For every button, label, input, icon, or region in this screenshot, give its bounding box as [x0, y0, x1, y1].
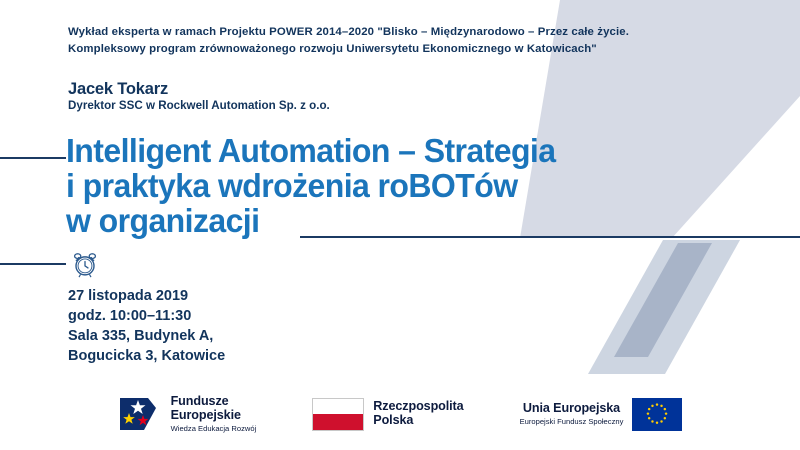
intro-text: Wykład eksperta w ramach Projektu POWER …: [68, 24, 668, 57]
event-address: Bogucicka 3, Katowice: [68, 346, 225, 366]
event-poster: Wykład eksperta w ramach Projektu POWER …: [0, 0, 800, 450]
alarm-clock-icon: [70, 249, 100, 279]
eu-flag-icon: [632, 398, 682, 431]
fe-logo-text: Fundusze Europejskie Wiedza Edukacja Roz…: [171, 395, 257, 432]
event-details: 27 listopada 2019 godz. 10:00–11:30 Sala…: [68, 286, 225, 366]
title-line-1: Intelligent Automation – Strategia: [66, 133, 667, 168]
slanted-band-inner: [614, 243, 712, 357]
fundusze-europejskie-logo: Fundusze Europejskie Wiedza Edukacja Roz…: [118, 394, 257, 434]
unia-europejska-logo: Unia Europejska Europejski Fundusz Społe…: [520, 398, 683, 431]
flag-stripe-white: [313, 399, 363, 415]
title-line-2: i praktyka wdrożenia roBOTów: [66, 168, 667, 203]
event-room: Sala 335, Budynek A,: [68, 326, 225, 346]
speaker-name: Jacek Tokarz: [68, 80, 168, 99]
ue-logo-line3: Europejski Fundusz Społeczny: [520, 418, 624, 426]
rp-logo-line2: Polska: [373, 414, 463, 428]
fe-logo-line2: Europejskie: [171, 409, 257, 423]
event-time: godz. 10:00–11:30: [68, 306, 225, 326]
slanted-band-outer: [588, 240, 740, 374]
ue-logo-line1: Unia Europejska: [520, 402, 624, 416]
intro-line-2: Kompleksowy program zrównoważonego rozwo…: [68, 41, 668, 58]
rzeczpospolita-polska-logo: Rzeczpospolita Polska: [312, 398, 463, 431]
speaker-role: Dyrektor SSC w Rockwell Automation Sp. z…: [68, 99, 330, 112]
ue-logo-text: Unia Europejska Europejski Fundusz Społe…: [520, 402, 624, 426]
rp-logo-text: Rzeczpospolita Polska: [373, 400, 463, 427]
event-date: 27 listopada 2019: [68, 286, 225, 306]
footer-logo-bar: Fundusze Europejskie Wiedza Edukacja Roz…: [0, 386, 800, 442]
title-line-3: w organizacji: [66, 203, 667, 238]
rule-clock-accent: [0, 263, 66, 265]
rp-logo-line1: Rzeczpospolita: [373, 400, 463, 414]
fe-logo-line1: Fundusze: [171, 395, 257, 409]
fe-logo-line3: Wiedza Edukacja Rozwój: [171, 425, 257, 433]
intro-line-1: Wykład eksperta w ramach Projektu POWER …: [68, 24, 668, 41]
rule-title-accent: [0, 157, 66, 159]
page-title: Intelligent Automation – Strategia i pra…: [66, 133, 667, 238]
poland-flag-icon: [312, 398, 364, 431]
fe-stars-icon: [118, 394, 162, 434]
flag-stripe-red: [313, 414, 363, 430]
